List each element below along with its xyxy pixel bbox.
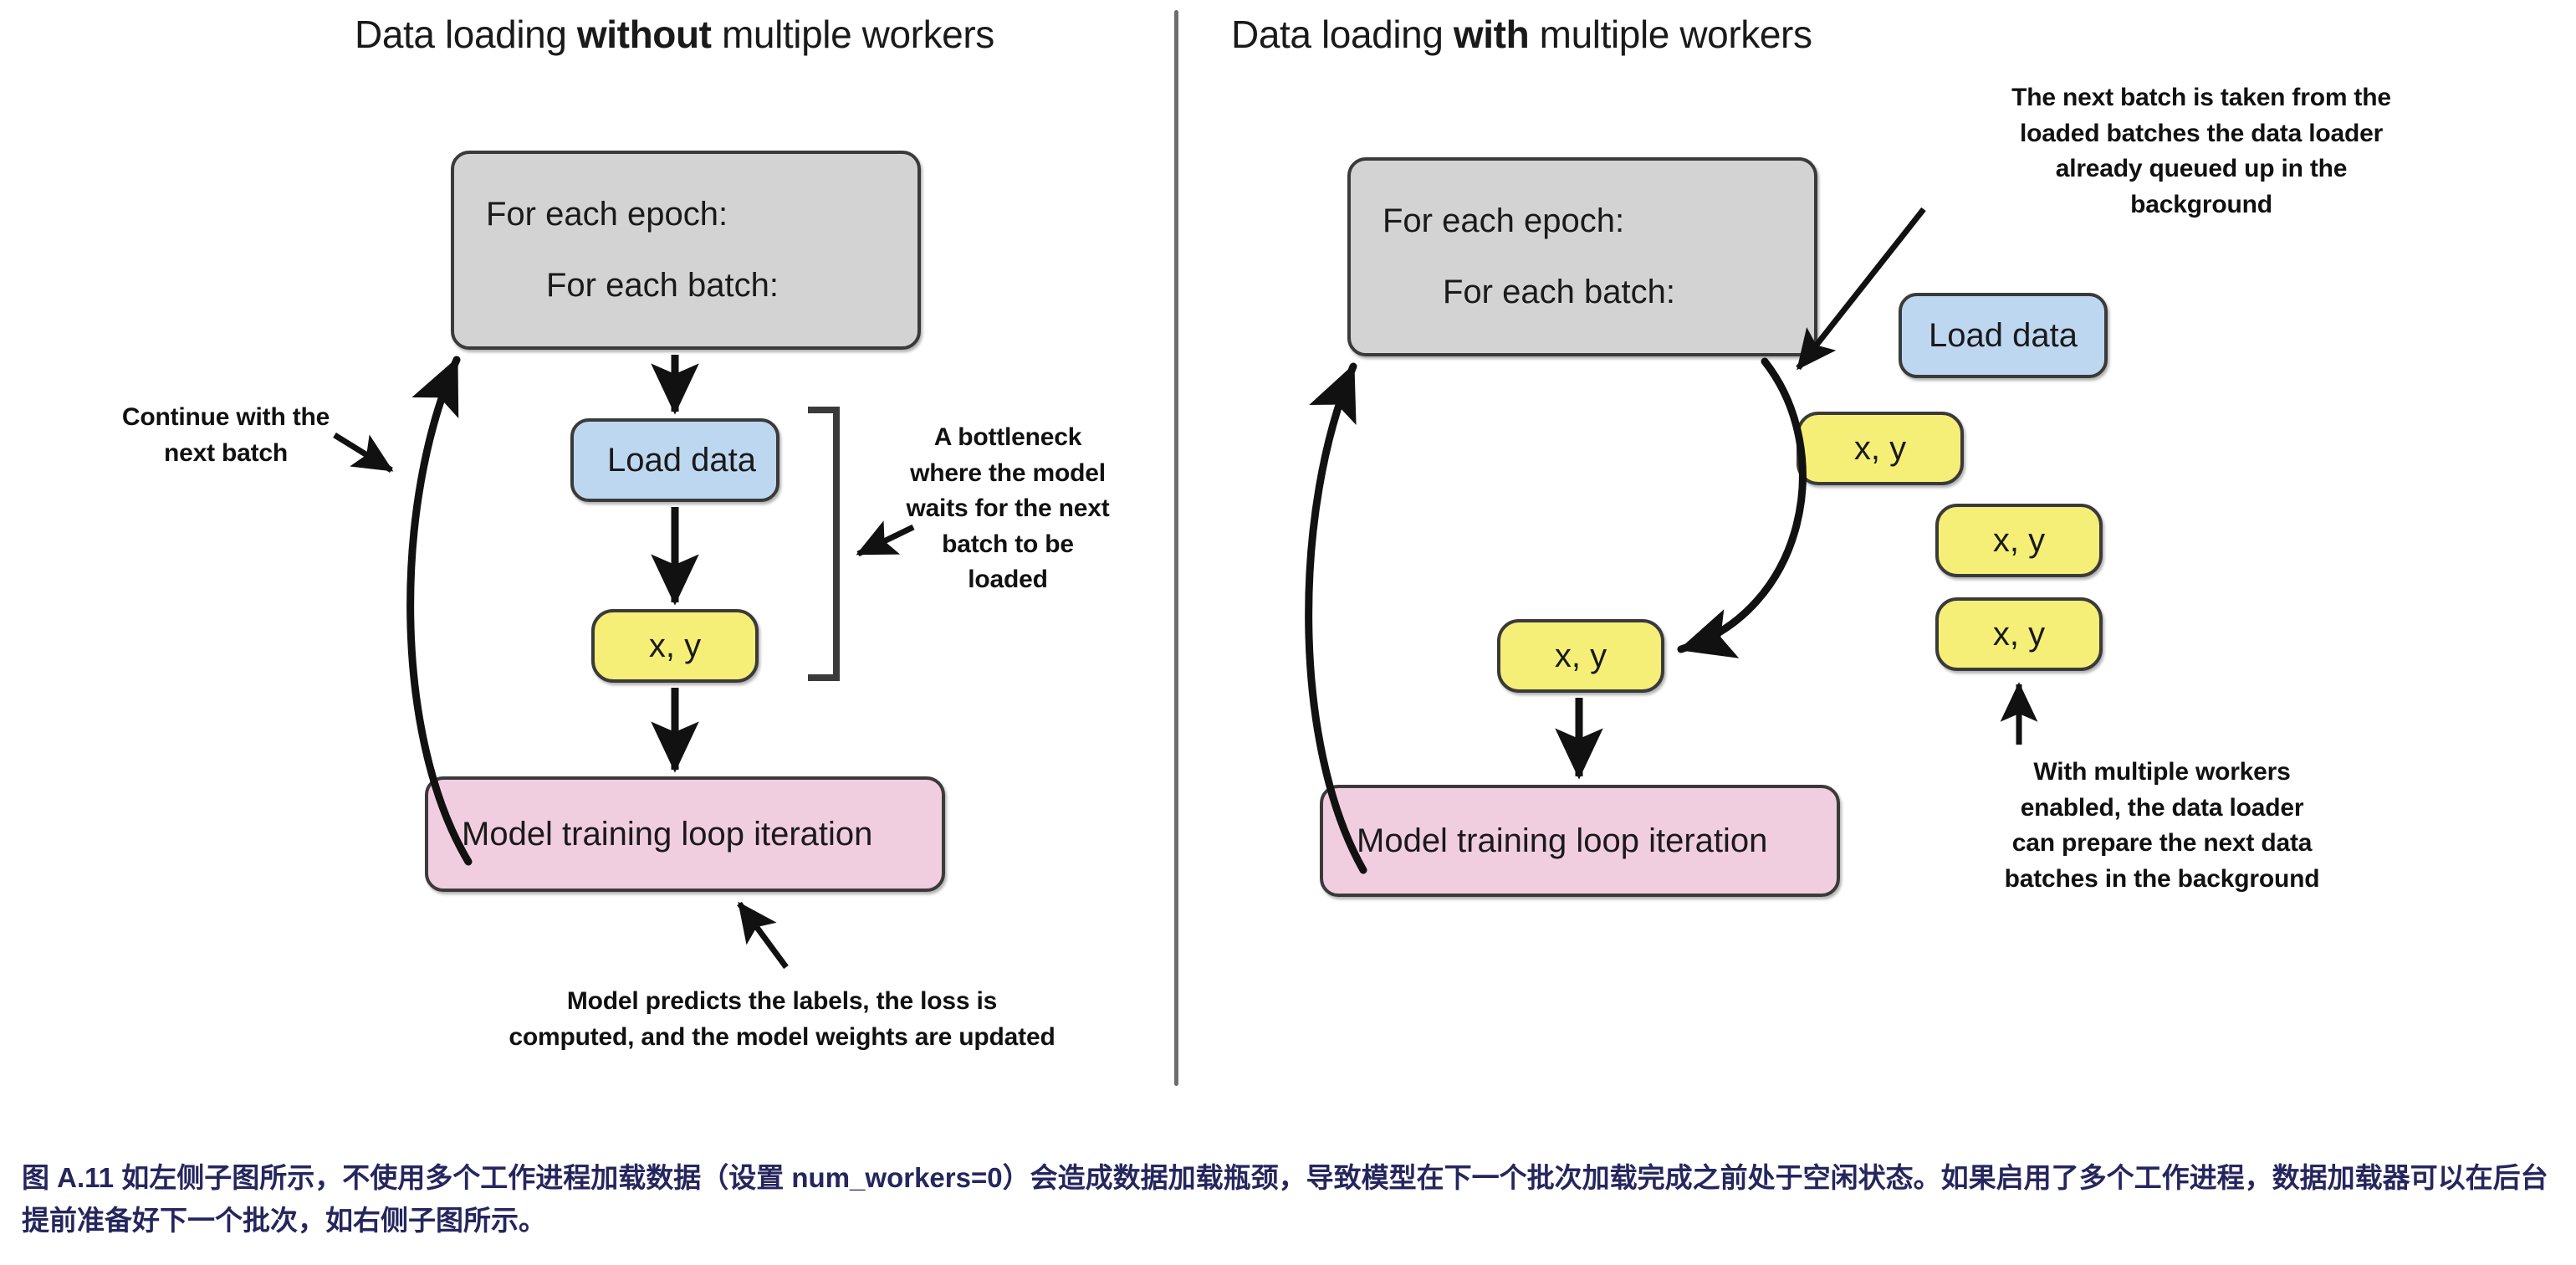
right-loop-batch-label: For each batch: (1443, 274, 1675, 311)
left-batch-box: x, y (591, 609, 759, 683)
right-loop-epoch-label: For each epoch: (1383, 202, 1624, 240)
right-next-batch-annotation: The next batch is taken from the loaded … (1942, 80, 2461, 223)
left-panel-title: Data loading without multiple workers (355, 12, 994, 57)
right-title-suffix: multiple workers (1529, 13, 1812, 56)
right-loop-header-box: For each epoch: For each batch: (1347, 157, 1817, 356)
left-loop-epoch-label: For each epoch: (486, 196, 728, 233)
right-batch-queued-box-1: x, y (1935, 504, 2103, 577)
panel-divider (1174, 10, 1178, 1086)
right-panel-title: Data loading with multiple workers (1231, 12, 1812, 57)
left-title-prefix: Data loading (355, 13, 577, 56)
right-title-prefix: Data loading (1231, 13, 1454, 56)
right-batch-queued-label-3: x, y (1555, 638, 1607, 675)
left-loop-header-box: For each epoch: For each batch: (451, 151, 921, 350)
figure-canvas: Data loading without multiple workers Da… (0, 0, 2576, 1265)
right-batch-queued-label-2: x, y (1993, 616, 2045, 653)
left-title-emphasis: without (577, 13, 712, 56)
right-training-box: Model training loop iteration (1320, 785, 1840, 897)
left-training-box: Model training loop iteration (425, 776, 945, 892)
right-title-emphasis: with (1454, 13, 1529, 56)
right-batch-queued-label-1: x, y (1993, 522, 2045, 560)
left-continue-annotation: Continue with the next batch (100, 400, 351, 471)
figure-caption: 图 A.11 如左侧子图所示，不使用多个工作进程加载数据（设置 num_work… (22, 1156, 2556, 1242)
left-predict-pointer (739, 904, 786, 967)
left-loop-batch-label: For each batch: (546, 267, 779, 305)
left-title-suffix: multiple workers (712, 13, 994, 56)
right-batch-queued-box-3: x, y (1497, 619, 1664, 693)
left-training-label: Model training loop iteration (462, 816, 942, 853)
right-batch-queued-box-2: x, y (1935, 597, 2103, 671)
left-load-data-box: Load data (570, 418, 779, 502)
right-batch-current-label: x, y (1854, 430, 1906, 468)
right-load-data-box: Load data (1899, 293, 2108, 378)
right-training-label: Model training loop iteration (1357, 822, 1837, 860)
right-load-data-label: Load data (1929, 317, 2078, 355)
left-bottleneck-annotation: A bottleneck where the model waits for t… (887, 420, 1129, 598)
right-batch-current-box: x, y (1797, 412, 1964, 485)
left-bottleneck-bracket (808, 410, 836, 678)
right-workers-annotation: With multiple workers enabled, the data … (1924, 755, 2400, 897)
left-batch-label: x, y (649, 627, 701, 665)
left-predict-annotation: Model predicts the labels, the loss is c… (452, 984, 1112, 1055)
left-load-data-label: Load data (607, 442, 776, 479)
right-loop-to-batch-arrow (1681, 361, 1802, 649)
